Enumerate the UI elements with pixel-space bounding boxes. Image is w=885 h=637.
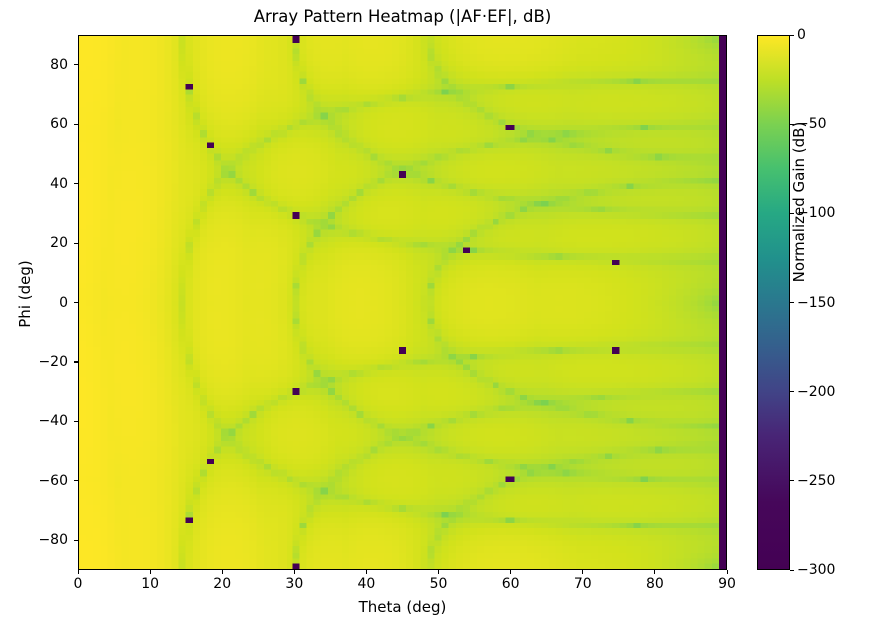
y-tick-mark [74,64,78,65]
colorbar-tick-label: 0 [797,27,806,43]
y-tick-label: −20 [0,354,68,370]
x-tick-label: 60 [502,576,520,592]
x-tick-label: 80 [646,576,664,592]
y-tick-label: 0 [0,295,68,311]
x-tick-label: 30 [285,576,303,592]
y-tick-mark [74,480,78,481]
y-tick-label: 20 [0,235,68,251]
y-tick-mark [74,183,78,184]
y-tick-label: 80 [0,57,68,73]
x-tick-mark [438,570,439,574]
colorbar-label: Normalized Gain (dB) [790,102,808,302]
colorbar [757,35,790,570]
x-tick-mark [366,570,367,574]
colorbar-tick-mark [790,480,794,481]
x-tick-mark [582,570,583,574]
x-tick-label: 0 [74,576,83,592]
heatmap-image [79,36,726,569]
x-tick-label: 20 [213,576,231,592]
y-tick-label: −40 [0,413,68,429]
x-tick-label: 90 [718,576,736,592]
y-tick-mark [74,302,78,303]
y-tick-label: −60 [0,473,68,489]
y-tick-label: 40 [0,176,68,192]
page-title: Array Pattern Heatmap (|AF·EF|, dB) [78,7,727,26]
x-tick-label: 10 [141,576,159,592]
y-tick-label: −80 [0,532,68,548]
colorbar-tick-label: −250 [797,473,835,489]
chart-figure: Array Pattern Heatmap (|AF·EF|, dB) 0102… [0,0,885,637]
x-tick-mark [222,570,223,574]
y-tick-mark [74,243,78,244]
colorbar-tick-mark [790,302,794,303]
y-tick-label: 60 [0,116,68,132]
heatmap-plot-area [78,35,727,570]
x-tick-mark [510,570,511,574]
x-tick-label: 70 [574,576,592,592]
colorbar-tick-mark [790,570,794,571]
y-tick-mark [74,421,78,422]
colorbar-tick-label: −300 [797,562,835,578]
x-tick-mark [78,570,79,574]
y-tick-mark [74,540,78,541]
y-tick-mark [74,361,78,362]
y-tick-mark [74,124,78,125]
x-tick-label: 40 [358,576,376,592]
x-tick-label: 50 [430,576,448,592]
x-tick-mark [150,570,151,574]
x-tick-mark [727,570,728,574]
colorbar-tick-mark [790,391,794,392]
y-axis-label: Phi (deg) [16,214,34,374]
colorbar-tick-mark [790,35,794,36]
colorbar-tick-label: −200 [797,384,835,400]
x-tick-mark [654,570,655,574]
x-axis-label: Theta (deg) [78,598,727,616]
x-tick-mark [294,570,295,574]
